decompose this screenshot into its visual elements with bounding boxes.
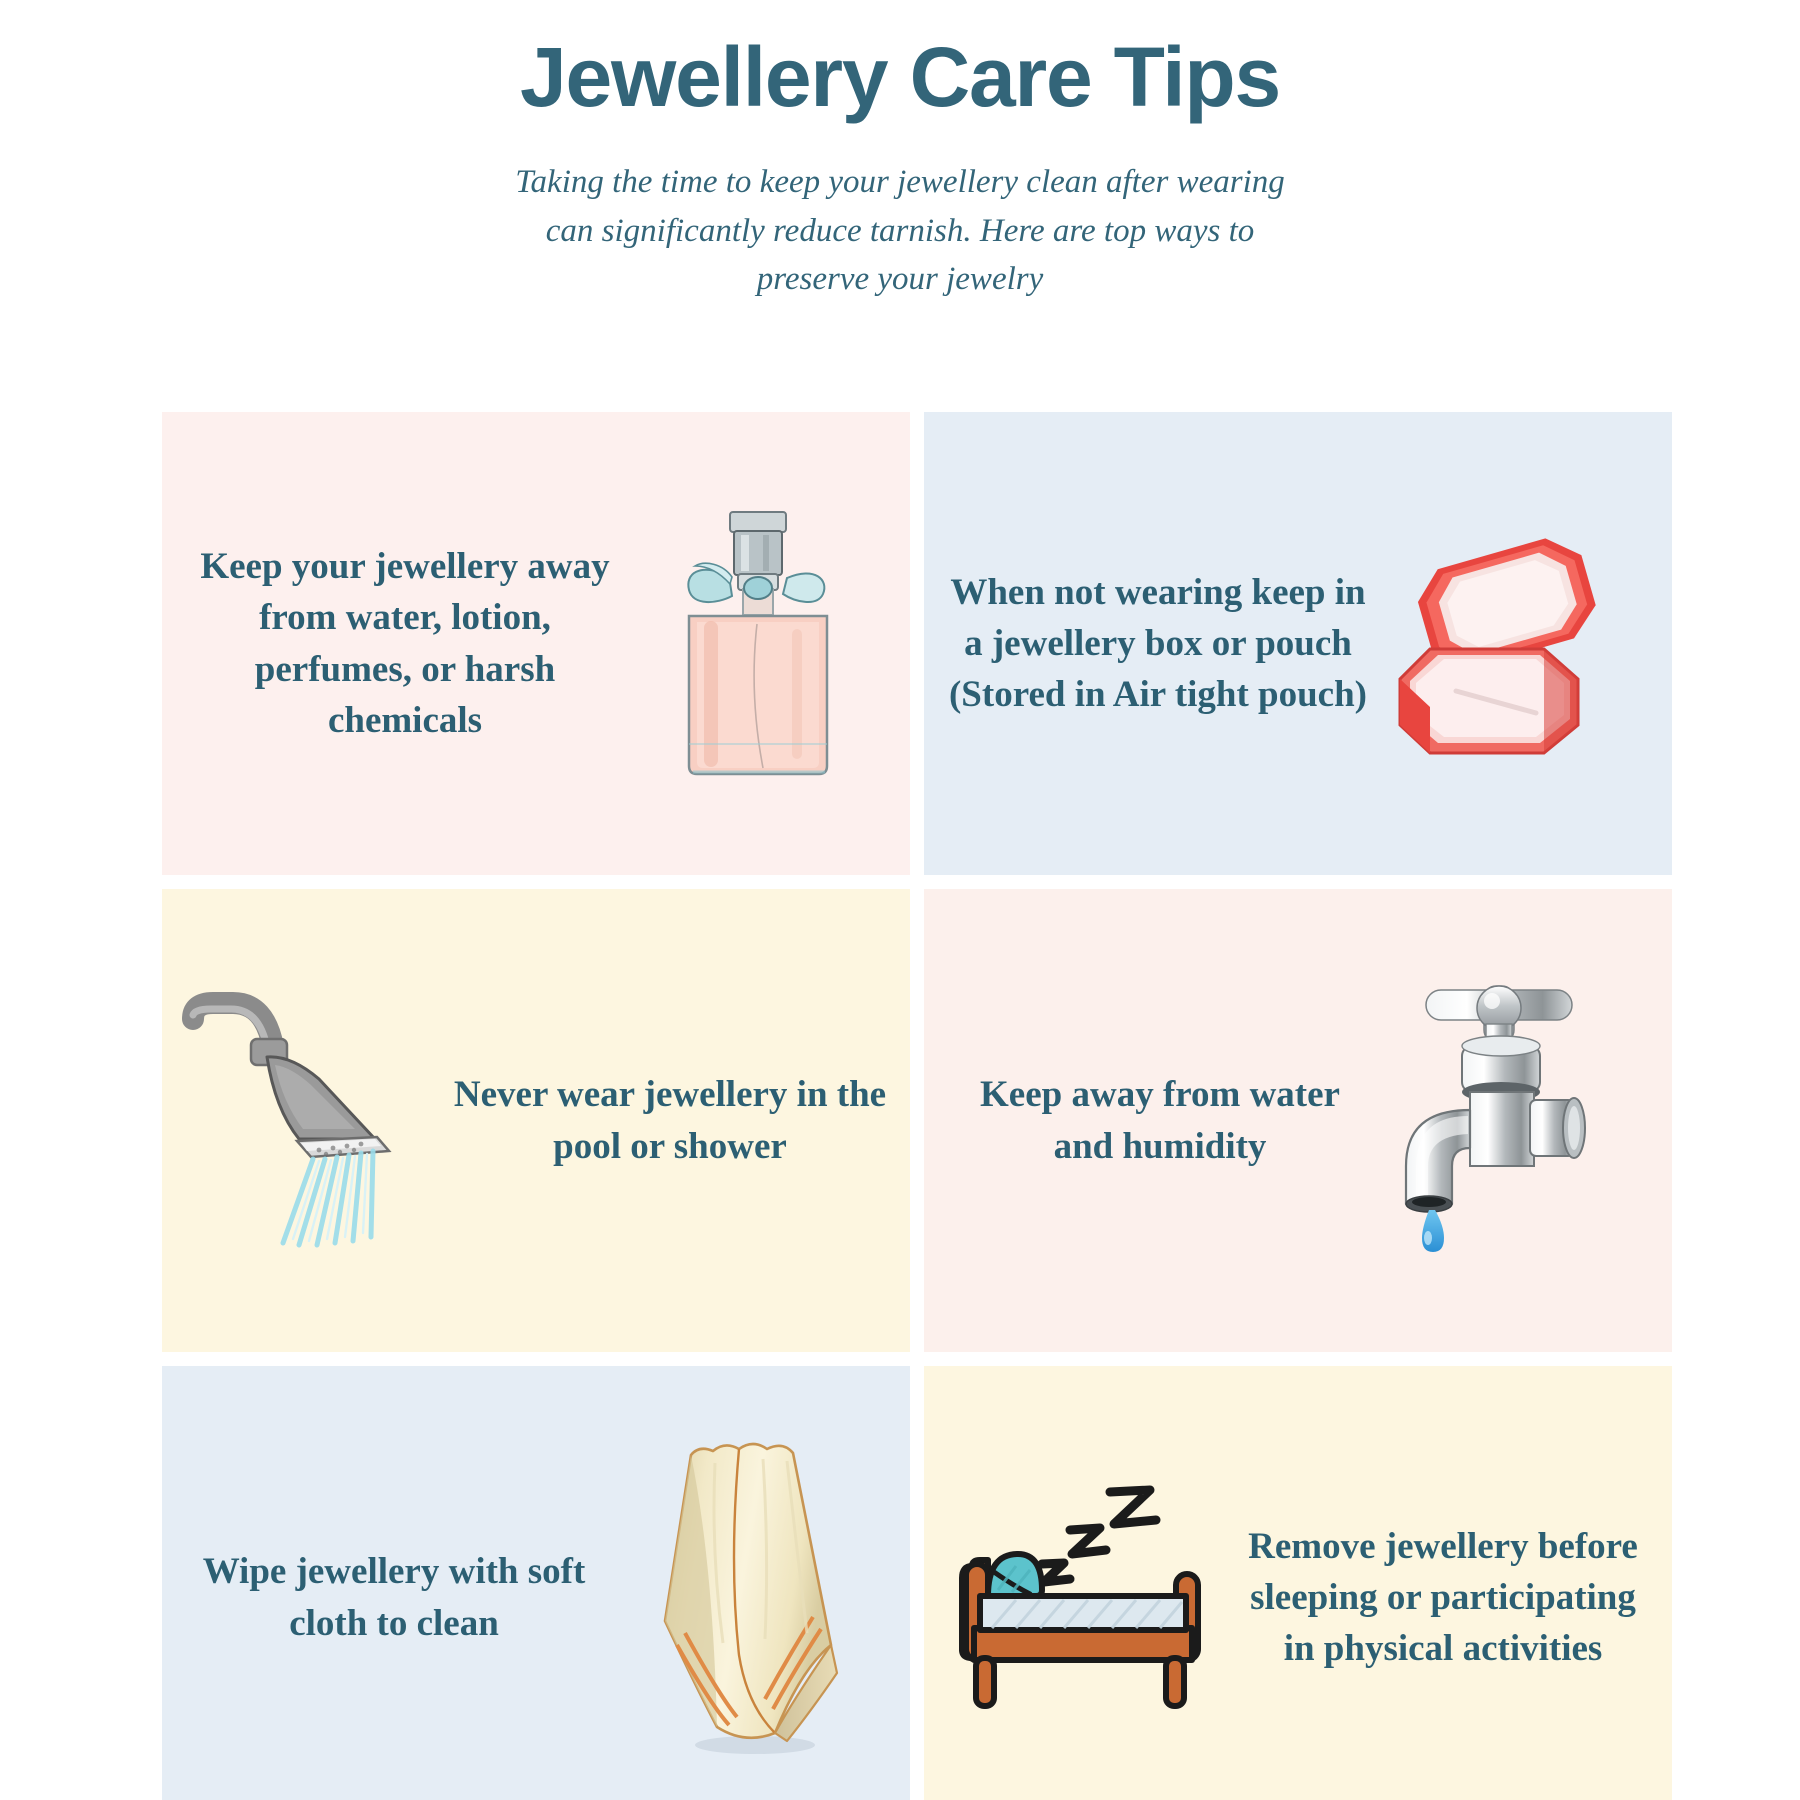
- shower-head-icon: [176, 991, 432, 1251]
- bed-sleeping-icon: [950, 1478, 1218, 1718]
- faucet-icon: [1384, 976, 1646, 1266]
- page-subtitle: Taking the time to keep your jewellery c…: [505, 158, 1295, 304]
- infographic-page: Jewellery Care Tips Taking the time to k…: [0, 0, 1800, 1800]
- header: Jewellery Care Tips Taking the time to k…: [0, 0, 1800, 304]
- card-wipe-text: Wipe jewellery with soft cloth to clean: [162, 1546, 620, 1648]
- card-shower[interactable]: Never wear jewellery in the pool or show…: [162, 889, 910, 1352]
- card-chemicals-text: Keep your jewellery away from water, lot…: [162, 541, 632, 745]
- card-sleep-text: Remove jewellery before sleeping or part…: [1218, 1521, 1672, 1674]
- cloth-icon: [620, 1433, 870, 1763]
- perfume-bottle-icon: [632, 504, 882, 784]
- card-storage-text: When not wearing keep in a jewellery box…: [924, 567, 1390, 720]
- card-storage[interactable]: When not wearing keep in a jewellery box…: [924, 412, 1672, 875]
- card-wipe[interactable]: Wipe jewellery with soft cloth to clean: [162, 1366, 910, 1800]
- jewellery-box-icon: [1390, 529, 1638, 759]
- card-humidity-text: Keep away from water and humidity: [924, 1069, 1384, 1171]
- tips-grid: Keep your jewellery away from water, lot…: [162, 412, 1652, 1800]
- card-sleep[interactable]: Remove jewellery before sleeping or part…: [924, 1366, 1672, 1800]
- card-humidity[interactable]: Keep away from water and humidity: [924, 889, 1672, 1352]
- card-chemicals[interactable]: Keep your jewellery away from water, lot…: [162, 412, 910, 875]
- page-title: Jewellery Care Tips: [0, 30, 1800, 124]
- card-shower-text: Never wear jewellery in the pool or show…: [432, 1069, 910, 1171]
